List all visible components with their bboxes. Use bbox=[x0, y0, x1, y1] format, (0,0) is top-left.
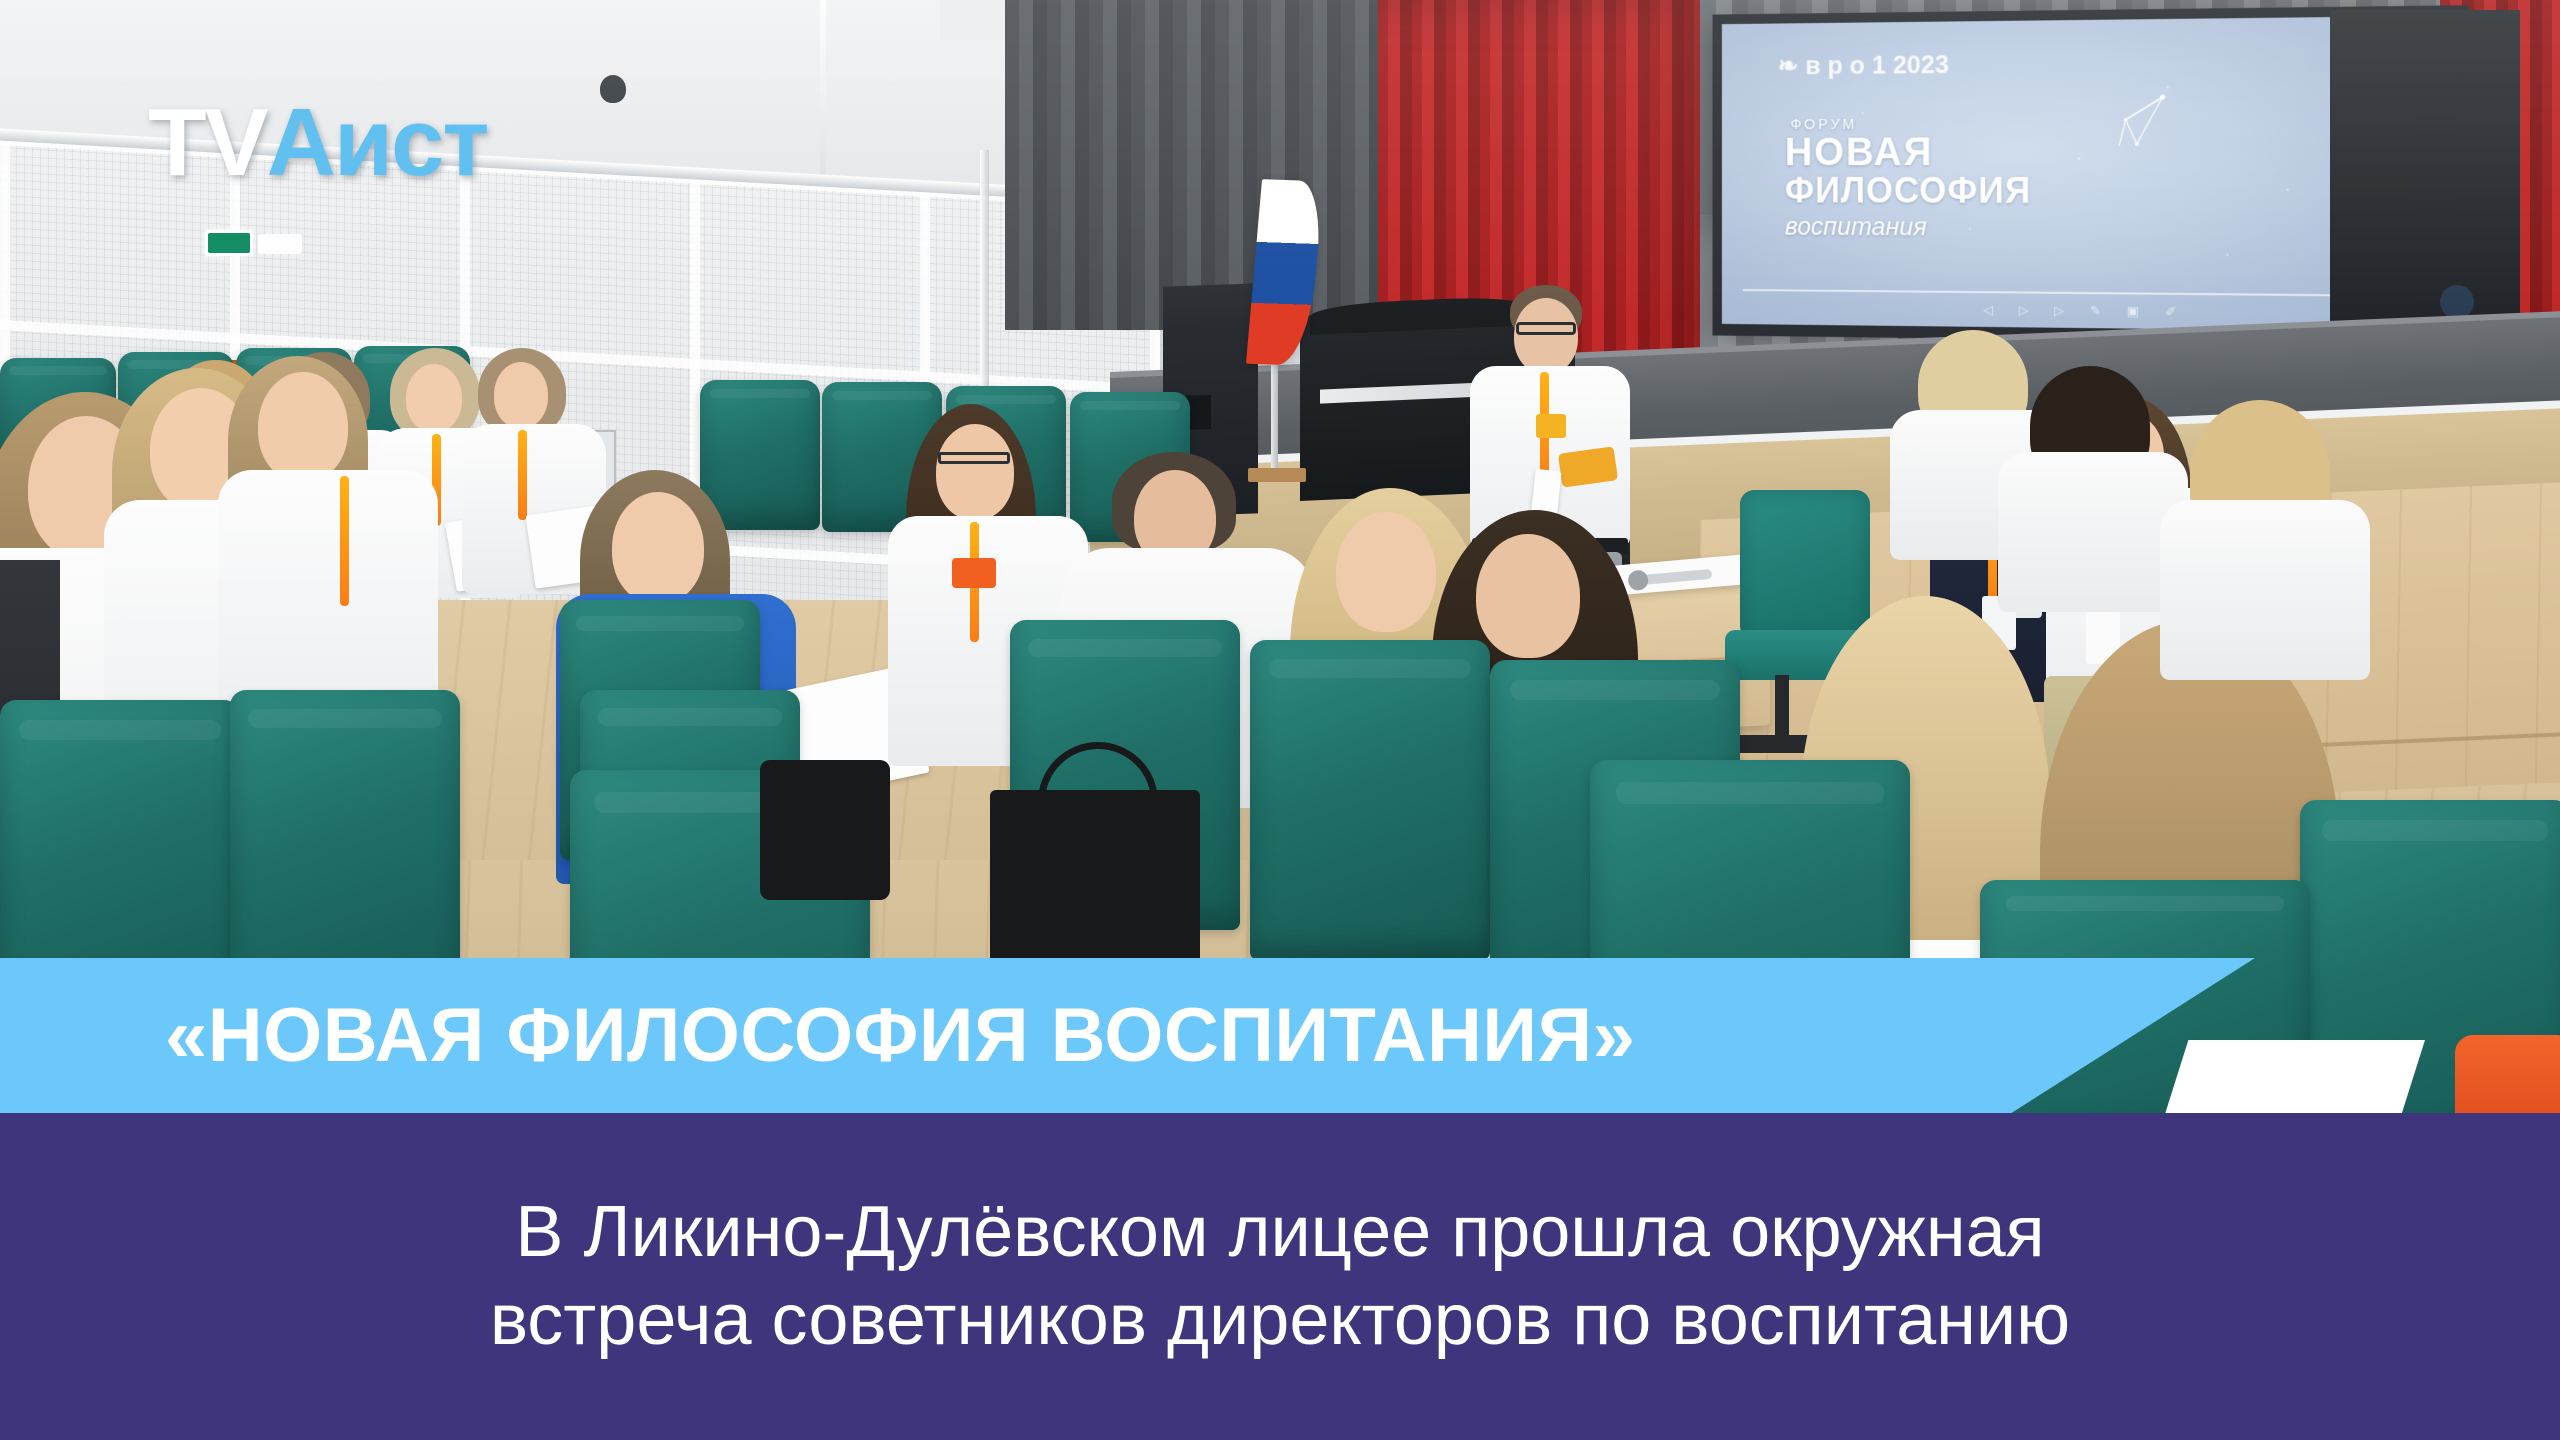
emergency-exit-sign-icon bbox=[205, 230, 253, 256]
pointer-tool-icon: ✐ bbox=[2165, 304, 2176, 320]
dark-curtain-left bbox=[1005, 0, 1385, 330]
information-sign-icon bbox=[258, 234, 302, 254]
screen-partner-logos: ❧ в р о 1 2023 bbox=[1778, 41, 2175, 87]
prev-slide-icon: ◁ bbox=[1983, 302, 1993, 318]
flag-stand bbox=[1248, 468, 1306, 482]
banner-white-accent-shape bbox=[2165, 1040, 2425, 1114]
channel-logo: TVАист bbox=[148, 95, 487, 191]
security-camera-icon bbox=[600, 75, 626, 103]
auditorium-chair bbox=[1250, 640, 1490, 960]
play-slide-icon: ▷ bbox=[2019, 302, 2029, 318]
auditorium-chair bbox=[700, 380, 820, 530]
channel-logo-tv: TV bbox=[148, 89, 267, 196]
pen-tool-icon: ✎ bbox=[2090, 303, 2101, 319]
screenshot-root: ❧ в р о 1 2023 ФОРУМ НОВАЯ ФИЛОСОФИЯ вос… bbox=[0, 0, 2560, 1440]
next-slide-icon: ▷ bbox=[2054, 303, 2064, 319]
screen-script-line: воспитания bbox=[1785, 211, 2205, 243]
subtitle-line-1: В Ликино-Дулёвском лицее прошла окружная bbox=[515, 1189, 2044, 1277]
handbag bbox=[990, 790, 1200, 970]
slide-grid-icon: ▣ bbox=[2127, 304, 2139, 320]
headline-text: «НОВАЯ ФИЛОСОФИЯ ВОСПИТАНИЯ» bbox=[165, 998, 1635, 1074]
handbag bbox=[760, 760, 890, 900]
channel-logo-name: Аист bbox=[267, 89, 488, 196]
office-chair-backrest bbox=[1740, 490, 1870, 640]
speaker-brand-icon bbox=[2440, 285, 2474, 319]
subtitle-banner: В Ликино-Дулёвском лицее прошла окружная… bbox=[0, 1113, 2560, 1440]
headline-banner: «НОВАЯ ФИЛОСОФИЯ ВОСПИТАНИЯ» bbox=[0, 958, 2255, 1113]
screen-title-line-2: ФИЛОСОФИЯ bbox=[1785, 173, 2205, 210]
screen-title-line-1: НОВАЯ bbox=[1785, 132, 2205, 173]
subtitle-line-2: встреча советников директоров по воспита… bbox=[490, 1277, 2070, 1365]
screen-forum-title: ФОРУМ НОВАЯ ФИЛОСОФИЯ воспитания bbox=[1785, 115, 2205, 244]
